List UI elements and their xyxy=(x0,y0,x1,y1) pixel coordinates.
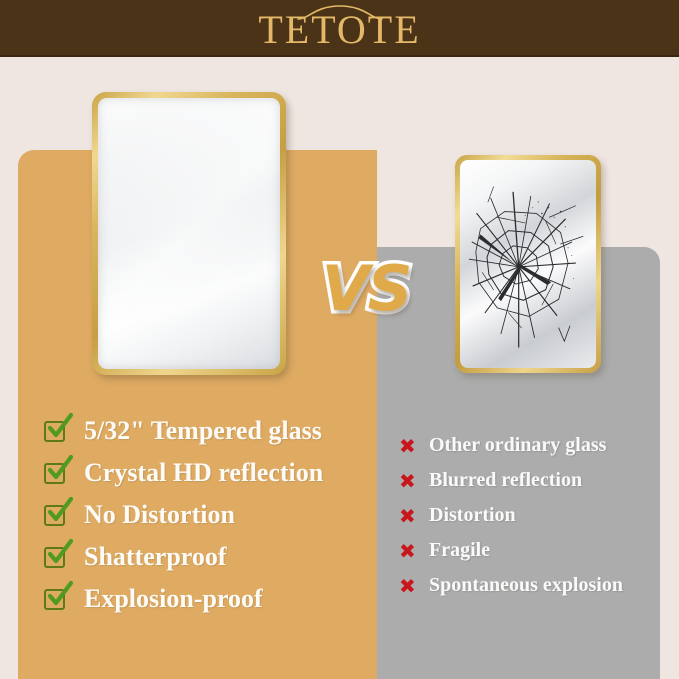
drawback-label: Fragile xyxy=(429,539,490,562)
list-item: ✖ Spontaneous explosion xyxy=(399,568,661,603)
drawback-label: Blurred reflection xyxy=(429,469,582,492)
list-item: Crystal HD reflection xyxy=(44,452,374,494)
red-x-icon: ✖ xyxy=(399,576,429,596)
list-item: Shatterproof xyxy=(44,536,374,578)
brand-header-bar: TETOTE xyxy=(0,0,679,57)
list-item: 5/32" Tempered glass xyxy=(44,410,374,452)
feature-label: Shatterproof xyxy=(84,542,227,572)
list-item: ✖ Distortion xyxy=(399,498,661,533)
red-x-icon: ✖ xyxy=(399,506,429,526)
green-checkbox-icon xyxy=(44,547,84,568)
feature-label: 5/32" Tempered glass xyxy=(84,416,322,446)
product-comparison-infographic: TETOTE xyxy=(0,0,679,679)
green-checkbox-icon xyxy=(44,589,84,610)
green-checkbox-icon xyxy=(44,421,84,442)
drawback-label: Other ordinary glass xyxy=(429,434,606,457)
list-item: ✖ Blurred reflection xyxy=(399,463,661,498)
good-feature-list: 5/32" Tempered glass Crystal HD reflecti… xyxy=(44,410,374,620)
feature-label: Explosion-proof xyxy=(84,584,263,614)
red-x-icon: ✖ xyxy=(399,471,429,491)
cracked-ordinary-glass-mirror-image xyxy=(455,155,601,373)
red-x-icon: ✖ xyxy=(399,436,429,456)
list-item: ✖ Other ordinary glass xyxy=(399,428,661,463)
green-checkbox-icon xyxy=(44,505,84,526)
intact-glass-surface xyxy=(98,98,280,369)
list-item: No Distortion xyxy=(44,494,374,536)
tempered-glass-mirror-image xyxy=(92,92,286,375)
green-checkbox-icon xyxy=(44,463,84,484)
brand-name: TETOTE xyxy=(0,8,679,52)
brand-logo: TETOTE xyxy=(0,0,679,57)
versus-badge: VS xyxy=(310,253,422,325)
drawback-label: Spontaneous explosion xyxy=(429,574,623,597)
list-item: ✖ Fragile xyxy=(399,533,661,568)
bad-feature-list: ✖ Other ordinary glass ✖ Blurred reflect… xyxy=(399,428,661,603)
shattered-glass-surface xyxy=(460,160,596,368)
drawback-label: Distortion xyxy=(429,504,516,527)
list-item: Explosion-proof xyxy=(44,578,374,620)
feature-label: Crystal HD reflection xyxy=(84,458,323,488)
crack-pattern-icon xyxy=(460,160,596,368)
feature-label: No Distortion xyxy=(84,500,235,530)
red-x-icon: ✖ xyxy=(399,541,429,561)
